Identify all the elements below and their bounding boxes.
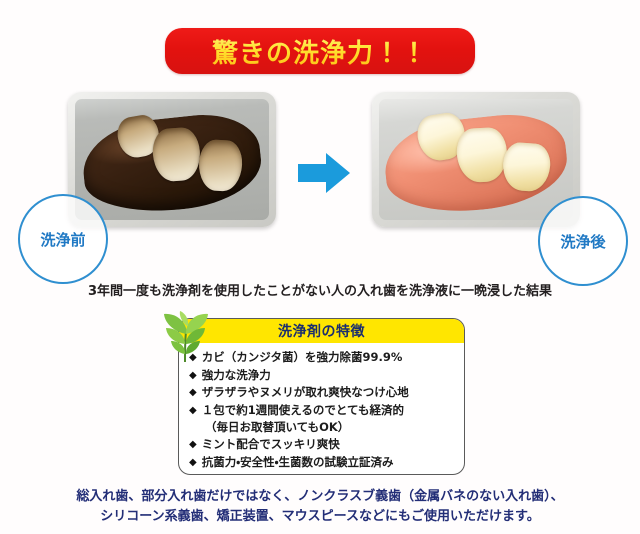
diamond-bullet-icon: ◆ (189, 349, 197, 367)
badge-before-label: 洗浄前 (40, 229, 85, 250)
feature-item-sub-label: （毎日お取替頂いてもOK） (205, 419, 349, 436)
feature-item: ◆ ミント配合でスッキリ爽快 (189, 436, 464, 454)
badge-before: 洗浄前 (18, 194, 108, 284)
footer-note: 総入れ歯、部分入れ歯だけではなく、ノンクラスブ義歯（金属バネのない入れ歯）、 シ… (0, 487, 640, 527)
comparison-caption: 3年間一度も洗浄剤を使用したことがない人の入れ歯を洗浄液に一晩浸した結果 (0, 280, 640, 299)
diamond-bullet-icon: ◆ (189, 454, 197, 472)
denture-before-image (75, 99, 269, 220)
features-box: 洗浄剤の特徴 ◆ カビ（カンジタ菌）を強力除菌99.9% ◆ 強力な洗浄力 ◆ … (178, 318, 465, 475)
photo-panel-before (68, 92, 276, 227)
photo-before (75, 99, 269, 220)
feature-item-label: 抗菌力・安全性・生菌数の試験立証済み (202, 454, 394, 471)
advertisement-page: 驚きの洗浄力！！ 洗浄前 (0, 0, 640, 534)
headline-banner: 驚きの洗浄力！！ (165, 28, 475, 74)
feature-item: ◆ 抗菌力・安全性・生菌数の試験立証済み (189, 454, 464, 472)
features-header: 洗浄剤の特徴 (179, 319, 464, 343)
feature-item-sub: （毎日お取替頂いてもOK） (189, 419, 464, 436)
diamond-bullet-icon: ◆ (189, 384, 197, 402)
feature-item: ◆ １包で約1週間使えるのでとても経済的 (189, 402, 464, 420)
arrow-right-icon (296, 150, 352, 196)
photo-panel-after (372, 92, 580, 227)
badge-after: 洗浄後 (538, 196, 628, 286)
diamond-bullet-icon: ◆ (189, 436, 197, 454)
denture-after-image (379, 99, 573, 220)
features-list: ◆ カビ（カンジタ菌）を強力除菌99.9% ◆ 強力な洗浄力 ◆ ザラザラやヌメ… (179, 343, 464, 471)
feature-item-label: カビ（カンジタ菌）を強力除菌99.9% (202, 349, 403, 366)
badge-after-label: 洗浄後 (560, 231, 605, 252)
feature-item: ◆ カビ（カンジタ菌）を強力除菌99.9% (189, 349, 464, 367)
diamond-bullet-icon: ◆ (189, 402, 197, 420)
headline-text: 驚きの洗浄力！！ (212, 33, 428, 70)
photo-after (379, 99, 573, 220)
diamond-bullet-icon: ◆ (189, 367, 197, 385)
feature-item: ◆ ザラザラやヌメリが取れ爽快なつけ心地 (189, 384, 464, 402)
footer-line-2: シリコーン系義歯、矯正装置、マウスピースなどにもご使用いただけます。 (0, 507, 640, 527)
transition-arrow (296, 150, 352, 196)
footer-line-1: 総入れ歯、部分入れ歯だけではなく、ノンクラスブ義歯（金属バネのない入れ歯）、 (0, 487, 640, 507)
feature-item-label: 強力な洗浄力 (202, 367, 271, 384)
features-header-label: 洗浄剤の特徴 (278, 321, 365, 341)
feature-item: ◆ 強力な洗浄力 (189, 367, 464, 385)
feature-item-label: １包で約1週間使えるのでとても経済的 (202, 402, 404, 419)
feature-item-label: ミント配合でスッキリ爽快 (202, 436, 340, 453)
feature-item-label: ザラザラやヌメリが取れ爽快なつけ心地 (202, 384, 409, 401)
